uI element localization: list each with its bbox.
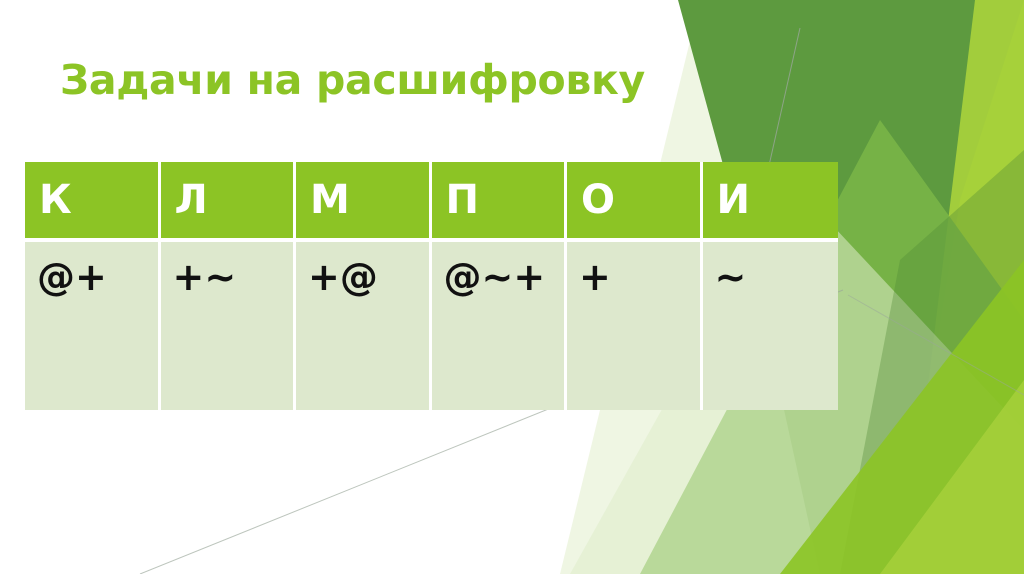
- table-header-cell-i: И: [703, 162, 839, 242]
- page-title: Задачи на расшифровку: [60, 56, 645, 104]
- table-cell-m-code: +@: [296, 242, 432, 410]
- decor-shape-light-far-right: [905, 0, 1024, 574]
- decor-shape-bright-right: [900, 0, 1024, 574]
- table-cell-k-code: @+: [25, 242, 161, 410]
- presentation-slide: Задачи на расшифровку К Л М П О И @+ +~ …: [0, 0, 1024, 574]
- table-header-cell-l: Л: [161, 162, 297, 242]
- cipher-key-table: К Л М П О И @+ +~ +@ @~+ + ~: [25, 162, 838, 410]
- decor-hairline-diagonal-right: [848, 295, 1024, 395]
- decor-hairline-vertical: [768, 28, 800, 170]
- table-cell-o-code: +: [567, 242, 703, 410]
- table-header-cell-m: М: [296, 162, 432, 242]
- table-cell-l-code: +~: [161, 242, 297, 410]
- table-header-row: К Л М П О И: [25, 162, 838, 242]
- table-header-cell-p: П: [432, 162, 568, 242]
- table-row: @+ +~ +@ @~+ + ~: [25, 242, 838, 410]
- table-cell-p-code: @~+: [432, 242, 568, 410]
- decor-shape-bottom-light: [880, 380, 1024, 574]
- table-cell-i-code: ~: [703, 242, 839, 410]
- table-header-cell-o: О: [567, 162, 703, 242]
- decor-shape-dark-overlay: [840, 150, 1024, 574]
- table-header-cell-k: К: [25, 162, 161, 242]
